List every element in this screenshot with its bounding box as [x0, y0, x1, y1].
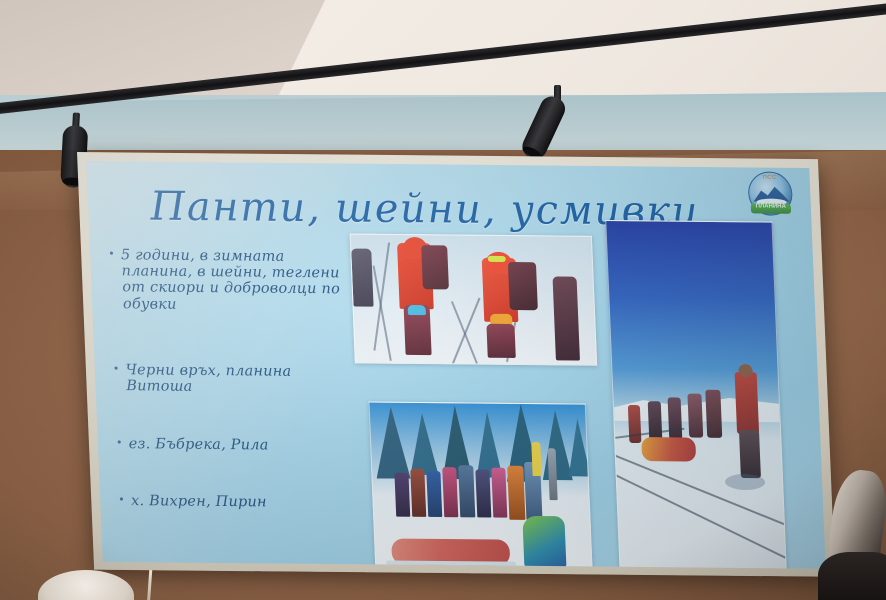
photo-vignette — [0, 150, 886, 600]
audience-head-silhouette — [818, 450, 886, 600]
audience-shoulder — [818, 552, 886, 600]
room-photo-scene: ПСС ПЛАНИНА Панти, шейни, усмивки • 5 го… — [0, 0, 886, 600]
